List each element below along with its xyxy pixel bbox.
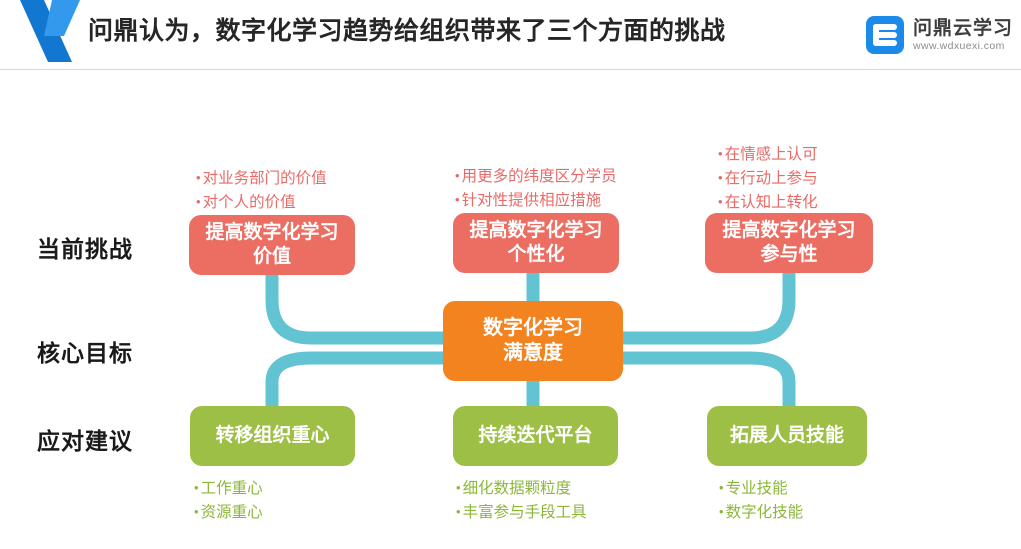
book-badge-icon [866, 16, 904, 54]
list-item: 丰富参与手段工具 [456, 500, 587, 524]
list-item: 专业技能 [719, 476, 803, 500]
list-item: 针对性提供相应措施 [455, 188, 617, 212]
recommendation-1-bullets: 工作重心 资源重心 [194, 476, 263, 524]
list-item: 在认知上转化 [718, 190, 818, 214]
list-item: 工作重心 [194, 476, 263, 500]
row-label-recommendations: 应对建议 [37, 422, 133, 456]
row-label-core-goal: 核心目标 [37, 334, 133, 368]
connector-left-top [272, 275, 447, 338]
list-item: 数字化技能 [719, 500, 803, 524]
recommendation-node-2[interactable]: 持续迭代平台 [453, 406, 618, 466]
list-item: 用更多的纬度区分学员 [455, 164, 617, 188]
book-line-1-shape [873, 24, 897, 30]
logo-url: www.wdxuexi.com [913, 40, 1013, 53]
page-header: 问鼎认为，数字化学习趋势给组织带来了三个方面的挑战 问鼎云学习 www.wdxu… [0, 0, 1021, 70]
diagram-canvas: 当前挑战 核心目标 应对建议 对业务部门的价值 对个人的价值 用更多的纬度区分学… [0, 70, 1021, 549]
recommendation-node-1[interactable]: 转移组织重心 [190, 406, 355, 466]
book-line-3-shape [873, 40, 897, 46]
book-line-2-shape [873, 32, 897, 38]
challenge-node-1[interactable]: 提高数字化学习价值 [189, 215, 355, 275]
list-item: 对业务部门的价值 [196, 166, 327, 190]
blue-chevron-logo-mark-icon [0, 0, 92, 62]
challenge-1-bullets: 对业务部门的价值 对个人的价值 [196, 166, 327, 214]
list-item: 资源重心 [194, 500, 263, 524]
connector-left-bottom [272, 358, 447, 406]
list-item: 细化数据颗粒度 [456, 476, 587, 500]
challenge-3-bullets: 在情感上认可 在行动上参与 在认知上转化 [718, 142, 818, 214]
brand-logo: 问鼎云学习 www.wdxuexi.com [866, 12, 1013, 58]
row-label-challenges: 当前挑战 [37, 230, 133, 264]
page-title: 问鼎认为，数字化学习趋势给组织带来了三个方面的挑战 [88, 11, 726, 47]
challenge-node-3[interactable]: 提高数字化学习参与性 [705, 213, 873, 273]
recommendation-node-3[interactable]: 拓展人员技能 [707, 406, 867, 466]
recommendation-2-bullets: 细化数据颗粒度 丰富参与手段工具 [456, 476, 587, 524]
connector-right-bottom [619, 358, 789, 406]
recommendation-3-bullets: 专业技能 数字化技能 [719, 476, 803, 524]
connector-right-top [619, 273, 789, 338]
core-goal-node[interactable]: 数字化学习满意度 [443, 301, 623, 381]
logo-name: 问鼎云学习 [913, 18, 1013, 40]
list-item: 在行动上参与 [718, 166, 818, 190]
list-item: 对个人的价值 [196, 190, 327, 214]
challenge-2-bullets: 用更多的纬度区分学员 针对性提供相应措施 [455, 164, 617, 212]
list-item: 在情感上认可 [718, 142, 818, 166]
challenge-node-2[interactable]: 提高数字化学习个性化 [453, 213, 619, 273]
